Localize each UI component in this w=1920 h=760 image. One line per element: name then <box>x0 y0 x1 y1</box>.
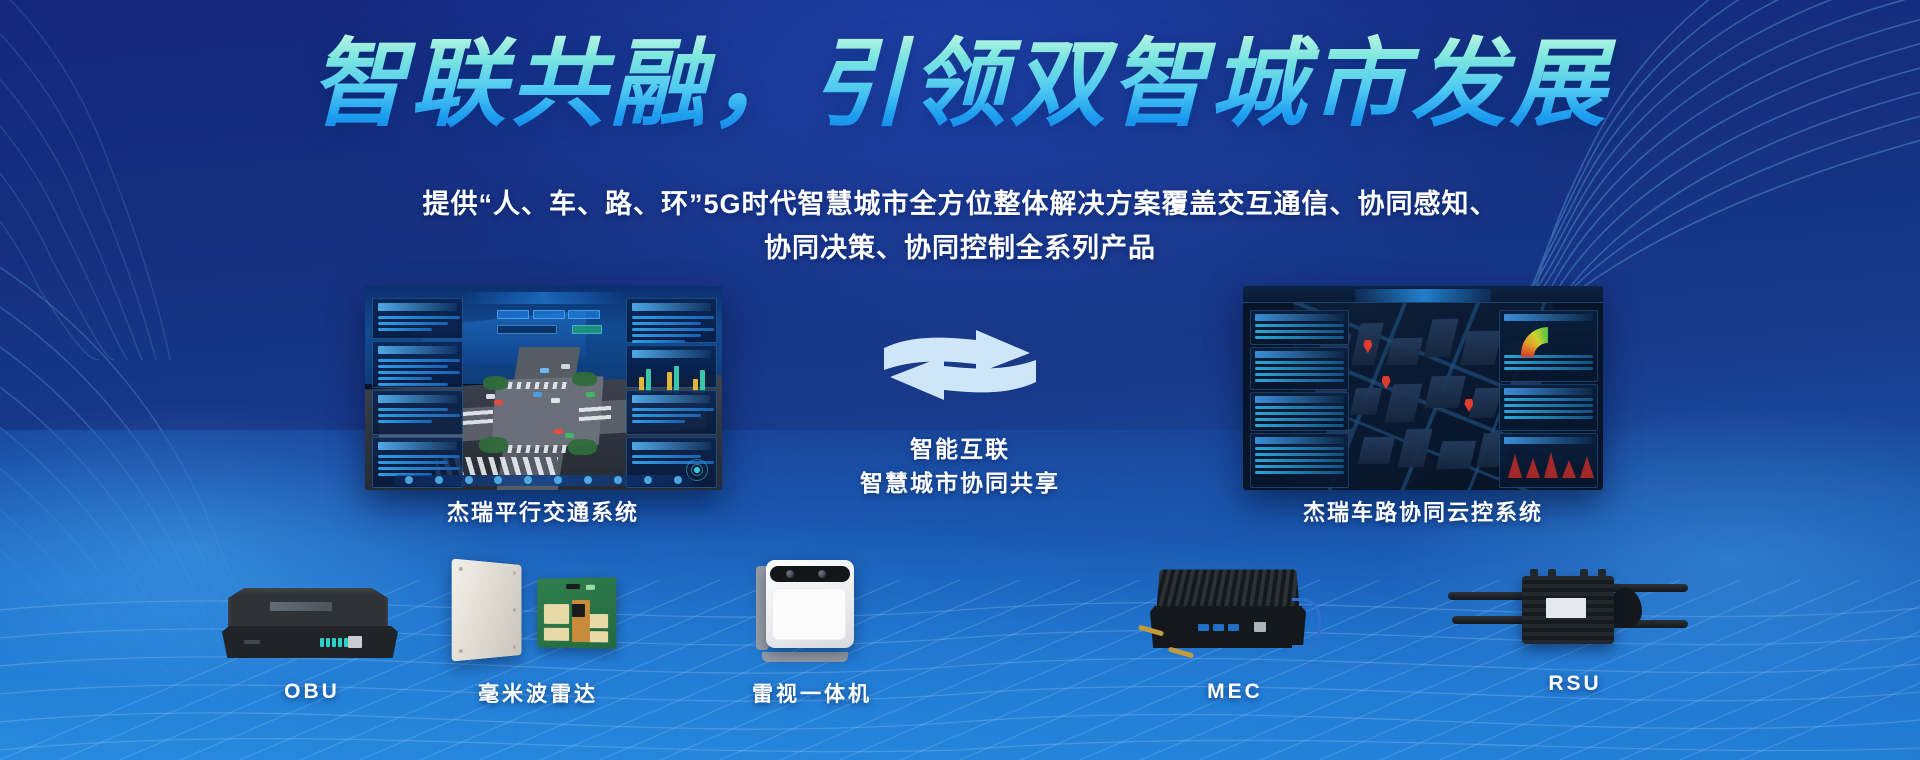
exchange-arrows-icon <box>880 330 1040 416</box>
product-label-radar-video: 雷视一体机 <box>652 678 972 708</box>
right-screen-caption: 杰瑞车路协同云控系统 <box>1213 495 1633 527</box>
banner-subtitle: 提供“人、车、路、环”5G时代智慧城市全方位整体解决方案覆盖交互通信、协同感知、… <box>0 182 1920 270</box>
left-dashboard-screenshot <box>365 286 722 490</box>
right-dashboard-screenshot <box>1243 286 1603 490</box>
exchange-line-2: 智慧城市协同共享 <box>790 466 1130 500</box>
gauge-icon <box>1521 327 1575 357</box>
marketing-banner: 智联共融，引领双智城市发展 提供“人、车、路、环”5G时代智慧城市全方位整体解决… <box>0 0 1920 760</box>
subtitle-line-1: 提供“人、车、路、环”5G时代智慧城市全方位整体解决方案覆盖交互通信、协同感知、 <box>0 182 1920 226</box>
right-screen-title-bar <box>1355 289 1491 302</box>
subtitle-line-2: 协同决策、协同控制全系列产品 <box>0 226 1920 270</box>
left-screen-toolbar <box>394 475 694 486</box>
banner-headline: 智联共融，引领双智城市发展 <box>0 34 1920 135</box>
obu-device <box>222 588 402 666</box>
exchange-caption: 智能互联 智慧城市协同共享 <box>790 432 1130 500</box>
exchange-line-1: 智能互联 <box>790 432 1130 466</box>
mmwave-radar-device <box>450 560 630 670</box>
product-label-mec: MEC <box>1075 680 1395 704</box>
mec-edge-computer-device <box>1150 568 1320 660</box>
product-label-mmwave-radar: 毫米波雷达 <box>378 678 698 708</box>
product-label-rsu: RSU <box>1415 672 1735 696</box>
rsu-roadside-unit-device <box>1448 566 1688 662</box>
left-screen-caption: 杰瑞平行交通系统 <box>333 495 753 527</box>
radar-video-camera-device <box>752 556 872 668</box>
left-screen-title-bar <box>461 292 625 304</box>
